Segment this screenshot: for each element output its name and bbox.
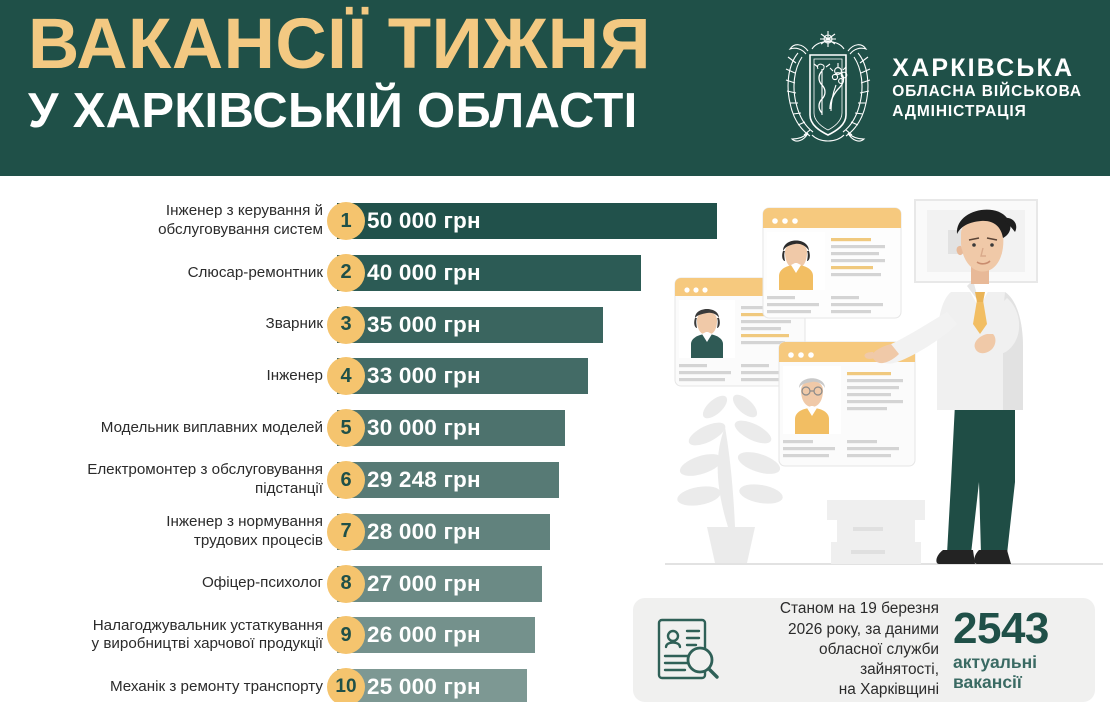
vacancy-count-number: 2543 xyxy=(953,608,1079,649)
bar-track: 28 000 грн7 xyxy=(337,514,550,550)
bar-category-label: Модельник виплавних моделей xyxy=(0,419,323,438)
bar-track: 25 000 грн10 xyxy=(337,669,527,702)
cv-card-young-man xyxy=(763,208,901,318)
vacancy-count-caption-2: вакансії xyxy=(953,672,1079,692)
header-banner: ВАКАНСІЇ ТИЖНЯ У ХАРКІВСЬКІЙ ОБЛАСТІ xyxy=(0,0,1110,176)
logo-text-block: ХАРКІВСЬКА ОБЛАСНА ВІЙСЬКОВА АДМІНІСТРАЦ… xyxy=(892,54,1082,122)
bar-value-label: 40 000 грн xyxy=(367,260,481,286)
header-title-group: ВАКАНСІЇ ТИЖНЯ У ХАРКІВСЬКІЙ ОБЛАСТІ xyxy=(28,8,728,139)
bar-value-label: 50 000 грн xyxy=(367,208,481,234)
bar-rank-badge: 1 xyxy=(327,202,365,240)
man-reviewing-cv-cards-illustration xyxy=(655,182,1110,594)
bar-value-label: 28 000 грн xyxy=(367,519,481,545)
bar-rank-badge: 2 xyxy=(327,254,365,292)
bar-category-label: Інженер з нормування трудових процесів xyxy=(0,513,323,550)
bar-track: 29 248 грн6 xyxy=(337,462,559,498)
bar-category-label: Слюсар-ремонтник xyxy=(0,264,323,283)
bar-category-label: Інженер з керування й обслуговування сис… xyxy=(0,202,323,239)
bar-category-label: Інженер xyxy=(0,367,323,386)
kharkiv-coat-of-arms-icon xyxy=(778,23,878,153)
bar-category-label: Зварник xyxy=(0,315,323,334)
vacancy-count-group: 2543 актуальні вакансії xyxy=(953,608,1079,693)
bar-category-label: Електромонтер з обслуговування підстанці… xyxy=(0,461,323,498)
bar-value-label: 35 000 грн xyxy=(367,312,481,338)
filing-cabinet-icon xyxy=(827,500,925,564)
bar-track: 40 000 грн2 xyxy=(337,255,641,291)
vacancy-count-caption-1: актуальні xyxy=(953,652,1079,672)
summary-description: Станом на 19 березня 2026 року, за даним… xyxy=(737,599,939,701)
vacancy-summary-box: Станом на 19 березня 2026 року, за даним… xyxy=(633,598,1095,702)
bar-rank-badge: 3 xyxy=(327,306,365,344)
bar-value-label: 30 000 грн xyxy=(367,415,481,441)
bar-category-label: Налагоджувальник устаткування у виробниц… xyxy=(0,617,323,654)
logo-line-1: ХАРКІВСЬКА xyxy=(892,54,1082,82)
logo-line-2: ОБЛАСНА ВІЙСЬКОВА xyxy=(892,82,1082,102)
bar-value-label: 27 000 грн xyxy=(367,571,481,597)
page-title: ВАКАНСІЇ ТИЖНЯ xyxy=(28,8,728,82)
bar-value-label: 29 248 грн xyxy=(367,467,481,493)
resume-search-icon xyxy=(651,614,723,686)
bar-value-label: 33 000 грн xyxy=(367,363,481,389)
bar-value-label: 26 000 грн xyxy=(367,622,481,648)
page-subtitle: У ХАРКІВСЬКІЙ ОБЛАСТІ xyxy=(28,84,728,139)
bar-rank-badge: 8 xyxy=(327,565,365,603)
bar-rank-badge: 5 xyxy=(327,409,365,447)
organization-logo: ХАРКІВСЬКА ОБЛАСНА ВІЙСЬКОВА АДМІНІСТРАЦ… xyxy=(778,20,1082,156)
bar-rank-badge: 6 xyxy=(327,461,365,499)
bar-track: 27 000 грн8 xyxy=(337,566,542,602)
bar-category-label: Офіцер-психолог xyxy=(0,574,323,593)
bar-track: 35 000 грн3 xyxy=(337,307,603,343)
salary-bar-chart: Інженер з керування й обслуговування сис… xyxy=(0,176,640,702)
bar-rank-badge: 10 xyxy=(327,668,365,702)
bar-track: 30 000 грн5 xyxy=(337,410,565,446)
bar-value-label: 25 000 грн xyxy=(367,674,481,700)
logo-line-3: АДМІНІСТРАЦІЯ xyxy=(892,102,1082,122)
bar-category-label: Механік з ремонту транспорту xyxy=(0,678,323,697)
bar-rank-badge: 7 xyxy=(327,513,365,551)
bar-track: 33 000 грн4 xyxy=(337,358,588,394)
potted-plant-icon xyxy=(676,391,784,563)
bar-track: 26 000 грн9 xyxy=(337,617,535,653)
